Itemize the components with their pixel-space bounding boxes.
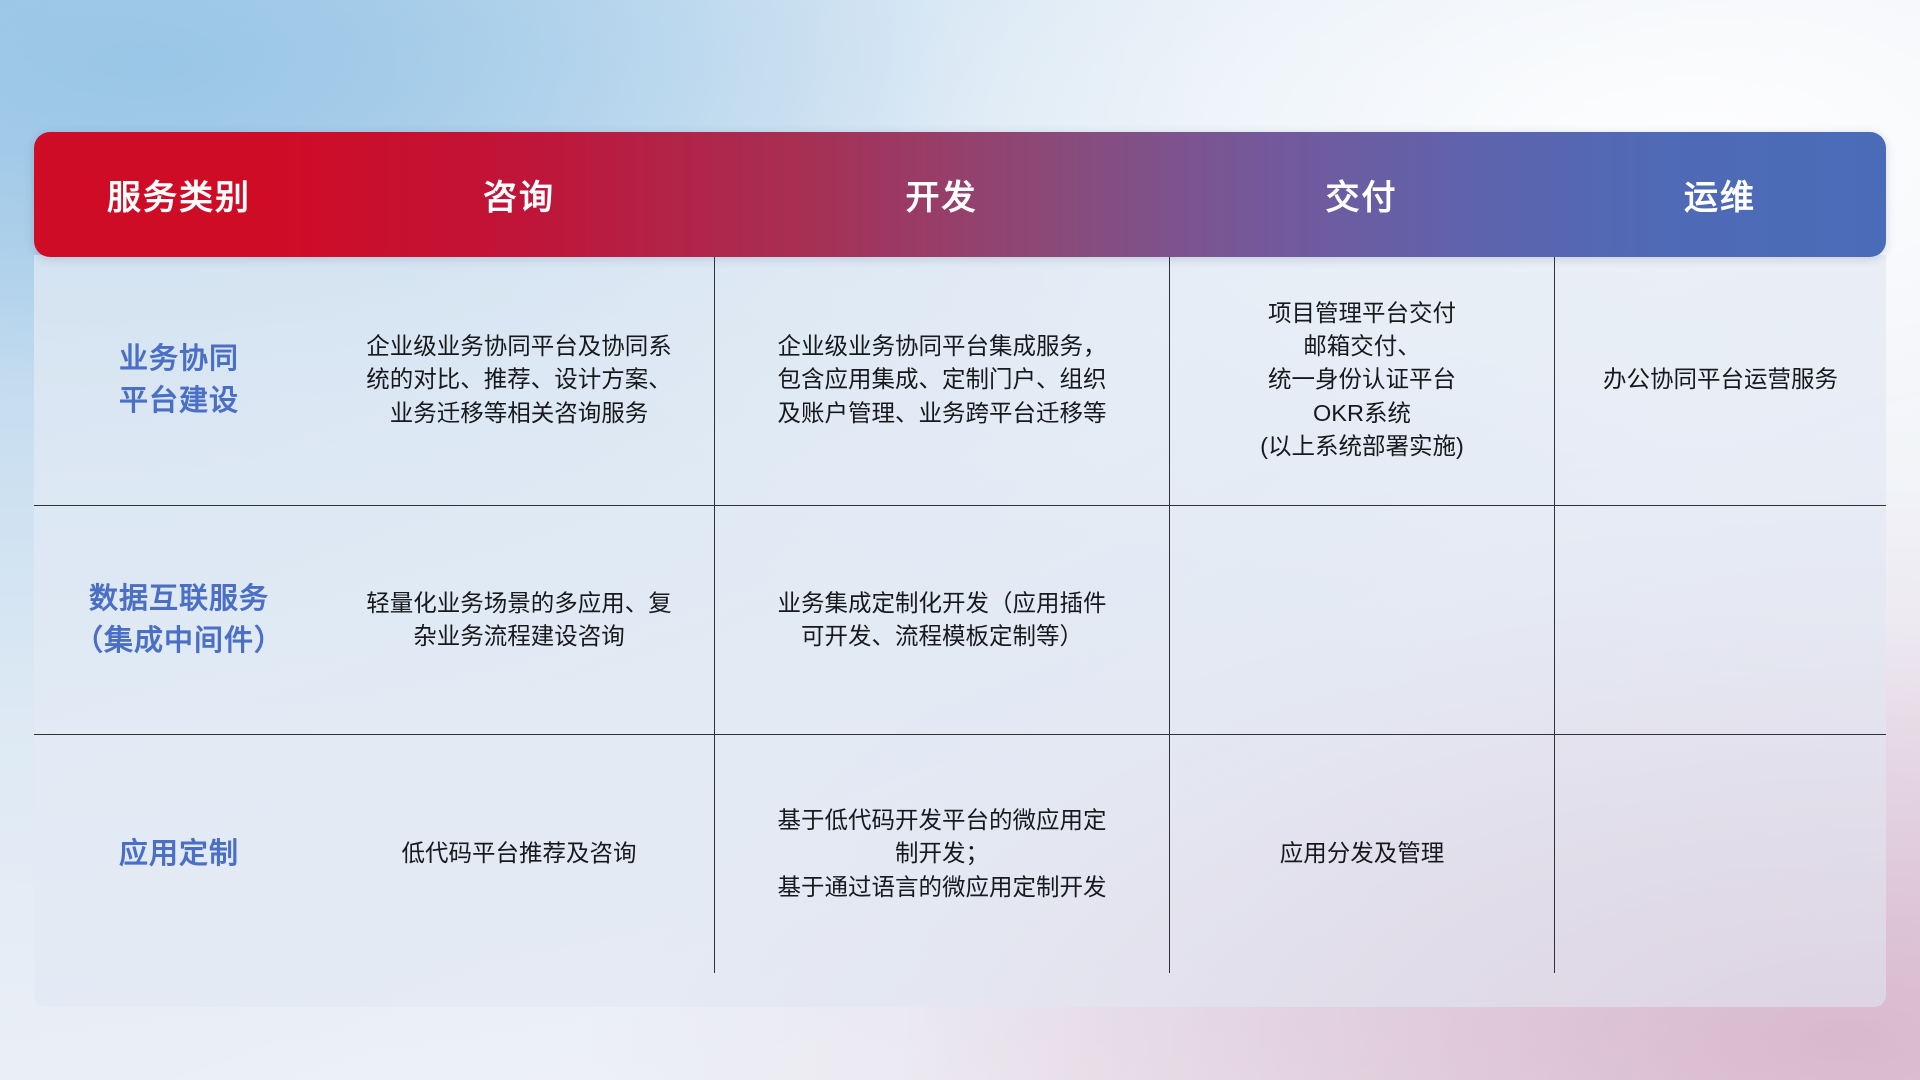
column-header-operations: 运维 xyxy=(1554,170,1886,219)
column-header-delivery: 交付 xyxy=(1169,170,1554,219)
column-header-development: 开发 xyxy=(714,170,1169,219)
table-row: 数据互联服务 （集成中间件） 轻量化业务场景的多应用、复 杂业务流程建设咨询 业… xyxy=(34,505,1886,734)
cell-operations xyxy=(1554,735,1886,973)
row-category-label: 应用定制 xyxy=(34,735,324,973)
table-row: 应用定制 低代码平台推荐及咨询 基于低代码开发平台的微应用定 制开发； 基于通过… xyxy=(34,734,1886,973)
cell-development: 基于低代码开发平台的微应用定 制开发； 基于通过语言的微应用定制开发 xyxy=(714,735,1169,973)
service-matrix-table: 服务类别 咨询 开发 交付 运维 业务协同 平台建设 企业级业务协同平台及协同系… xyxy=(34,132,1886,1007)
cell-delivery xyxy=(1169,506,1554,734)
cell-consulting: 企业级业务协同平台及协同系 统的对比、推荐、设计方案、 业务迁移等相关咨询服务 xyxy=(324,255,714,505)
column-header-consulting: 咨询 xyxy=(324,170,714,219)
cell-consulting: 低代码平台推荐及咨询 xyxy=(324,735,714,973)
cell-development: 企业级业务协同平台集成服务， 包含应用集成、定制门户、组织 及账户管理、业务跨平… xyxy=(714,255,1169,505)
cell-consulting: 轻量化业务场景的多应用、复 杂业务流程建设咨询 xyxy=(324,506,714,734)
table-body: 业务协同 平台建设 企业级业务协同平台及协同系 统的对比、推荐、设计方案、 业务… xyxy=(34,255,1886,1007)
cell-delivery: 项目管理平台交付 邮箱交付、 统一身份认证平台 OKR系统 (以上系统部署实施) xyxy=(1169,255,1554,505)
table-row: 业务协同 平台建设 企业级业务协同平台及协同系 统的对比、推荐、设计方案、 业务… xyxy=(34,255,1886,505)
table-header-row: 服务类别 咨询 开发 交付 运维 xyxy=(34,132,1886,257)
column-header-service-category: 服务类别 xyxy=(34,170,324,219)
cell-development: 业务集成定制化开发（应用插件 可开发、流程模板定制等） xyxy=(714,506,1169,734)
cell-delivery: 应用分发及管理 xyxy=(1169,735,1554,973)
row-category-label: 业务协同 平台建设 xyxy=(34,255,324,505)
cell-operations: 办公协同平台运营服务 xyxy=(1554,255,1886,505)
row-category-label: 数据互联服务 （集成中间件） xyxy=(34,506,324,734)
cell-operations xyxy=(1554,506,1886,734)
